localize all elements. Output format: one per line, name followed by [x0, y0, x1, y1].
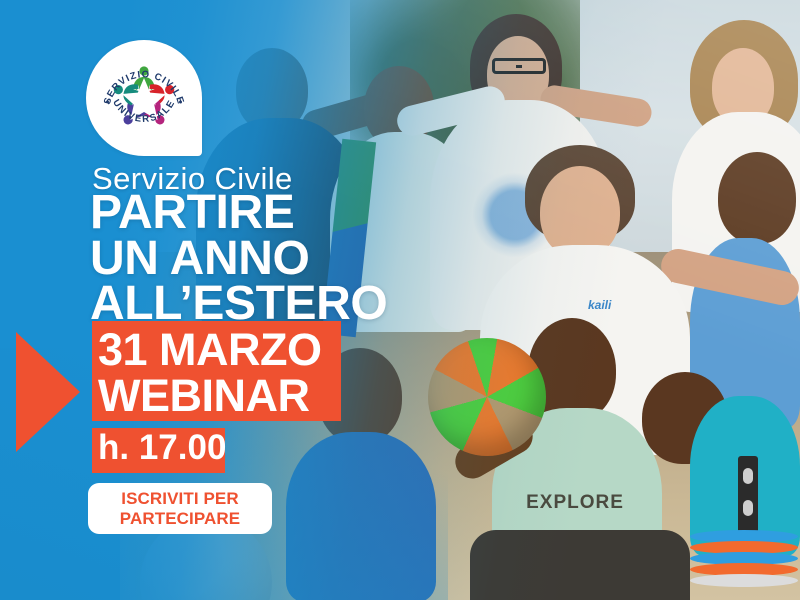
- event-date: 31 MARZO: [92, 327, 341, 373]
- servizio-civile-universale-logo: SERVIZIO CIVILE UNIVERSALE: [94, 48, 194, 148]
- webinar-promo-banner: kaili EXPLORE: [0, 0, 800, 600]
- play-triangle-icon: [16, 332, 80, 452]
- logo-badge: SERVIZIO CIVILE UNIVERSALE: [86, 40, 202, 156]
- headline-line-1: PARTIRE: [90, 190, 387, 236]
- event-time: h. 17.00: [92, 430, 225, 467]
- event-time-block: h. 17.00: [92, 428, 225, 473]
- event-date-block: 31 MARZO WEBINAR: [92, 321, 341, 421]
- register-button-label-line-2: PARTECIPARE: [120, 509, 240, 528]
- register-button[interactable]: ISCRIVITI PER PARTECIPARE: [88, 483, 272, 534]
- page-title: PARTIRE UN ANNO ALL’ESTERO: [90, 190, 387, 327]
- headline-line-2: UN ANNO: [90, 236, 387, 282]
- headline-line-3: ALL’ESTERO: [90, 281, 387, 327]
- event-format: WEBINAR: [92, 373, 341, 419]
- register-button-label-line-1: ISCRIVITI PER: [121, 489, 239, 508]
